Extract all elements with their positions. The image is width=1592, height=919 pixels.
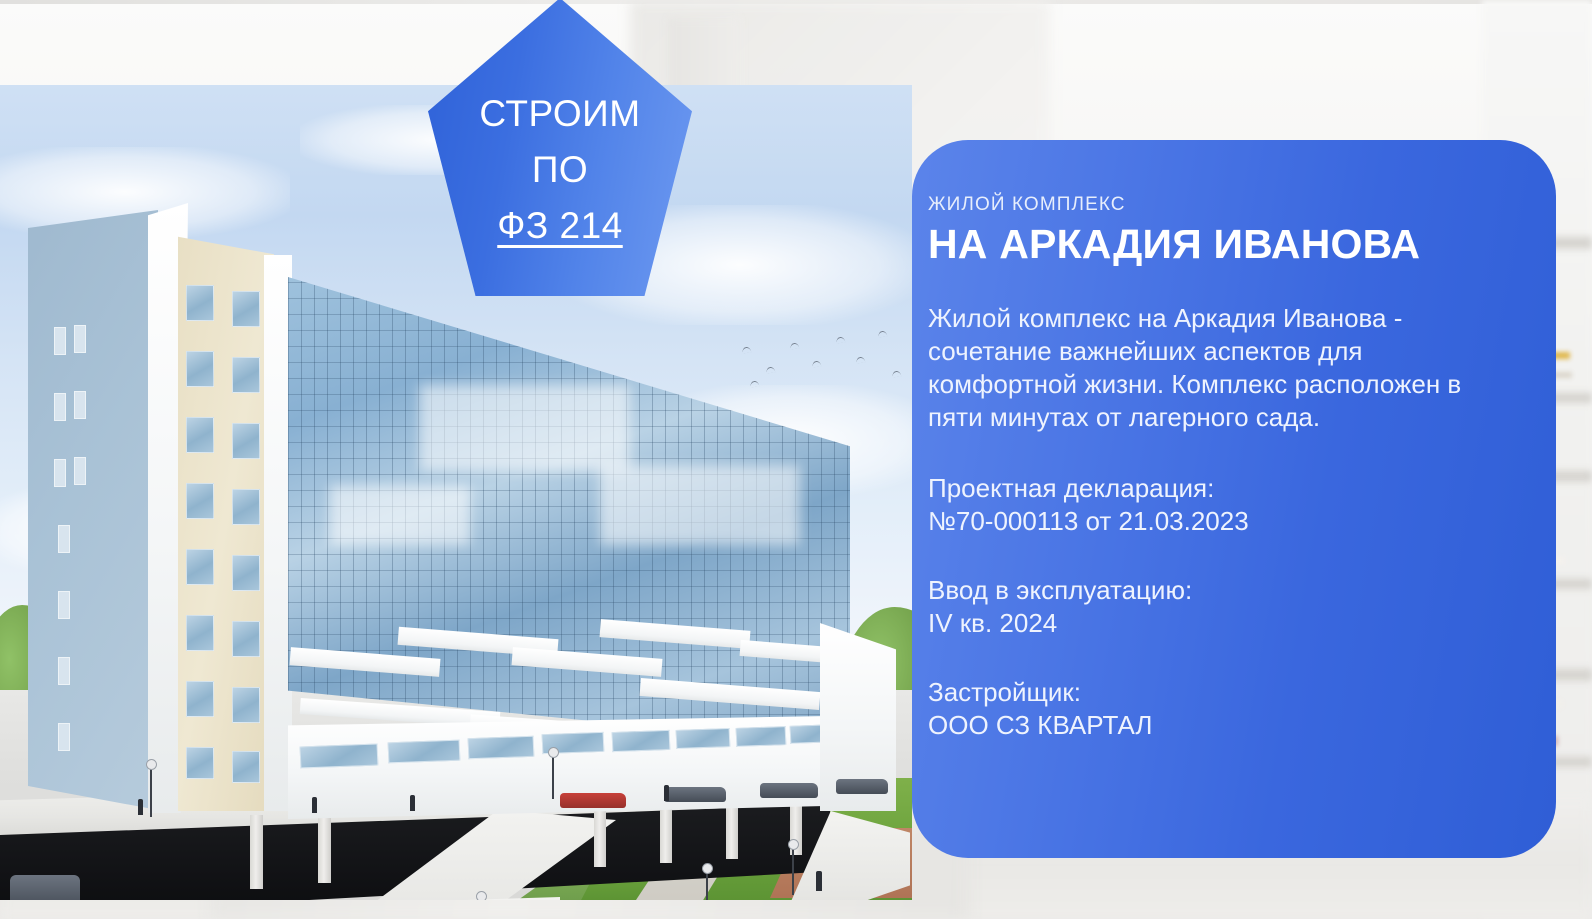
glass-reflection [420, 385, 630, 471]
parked-car [560, 793, 626, 808]
facade-window [186, 681, 214, 717]
facade-window [186, 483, 214, 519]
bird-icon [836, 336, 846, 343]
end-wall-window [74, 325, 86, 353]
bird-icon [812, 360, 822, 367]
badge-line-2: ПО [532, 142, 588, 198]
bird-icon [790, 342, 800, 349]
bird-icon [750, 380, 760, 387]
facade-window [186, 747, 214, 779]
end-wall-window [74, 391, 86, 419]
base-window [612, 730, 671, 752]
parking-column [250, 815, 263, 889]
end-wall-window [58, 525, 70, 553]
building-end-wall [28, 210, 158, 810]
street-lamp [792, 845, 794, 895]
field-developer: Застройщик: ООО СЗ КВАРТАЛ [928, 676, 1500, 742]
end-wall-window [58, 723, 70, 751]
field-label: Застройщик: [928, 676, 1500, 709]
street-lamp [552, 753, 554, 799]
street-lamp-head [476, 891, 487, 900]
panel-eyebrow: ЖИЛОЙ КОМПЛЕКС [928, 194, 1500, 216]
parked-car [760, 783, 818, 798]
facade-window [232, 621, 260, 657]
facade-window [232, 357, 260, 393]
badge-line-3: ФЗ 214 [497, 198, 623, 254]
end-wall-window [54, 393, 66, 421]
parking-column [318, 811, 331, 883]
end-wall-window [54, 459, 66, 487]
slide-canvas: СТРОИМ ПО ФЗ 214 ЖИЛОЙ КОМПЛЕКС НА АРКАД… [0, 0, 1592, 919]
person [816, 871, 822, 891]
end-wall-window [58, 591, 70, 619]
glass-reflection [330, 485, 470, 545]
page-title: НА АРКАДИЯ ИВАНОВА [928, 220, 1500, 268]
end-wall-window [54, 327, 66, 355]
end-wall-window [74, 457, 86, 485]
glass-reflection [600, 465, 800, 545]
person [138, 799, 143, 815]
facade-window [232, 291, 260, 327]
street-lamp-head [146, 759, 157, 770]
facade-window [232, 555, 260, 591]
parked-car [836, 779, 888, 794]
facade-window [186, 549, 214, 585]
bird-icon [878, 330, 888, 337]
parked-car [10, 875, 80, 900]
person [410, 795, 415, 811]
facade-window [186, 615, 214, 651]
bird-icon [892, 370, 902, 377]
base-window [736, 726, 787, 747]
bird-icon [856, 356, 866, 363]
project-info-panel: ЖИЛОЙ КОМПЛЕКС НА АРКАДИЯ ИВАНОВА Жилой … [912, 140, 1556, 858]
field-value: №70-000113 от 21.03.2023 [928, 505, 1500, 538]
field-value: ООО СЗ КВАРТАЛ [928, 709, 1500, 742]
facade-window [232, 489, 260, 525]
field-value: IV кв. 2024 [928, 607, 1500, 640]
facade-window [186, 351, 214, 387]
street-lamp-head [548, 747, 559, 758]
facade-window [232, 751, 260, 783]
field-declaration: Проектная декларация: №70-000113 от 21.0… [928, 472, 1500, 538]
parked-car [664, 787, 726, 802]
badge-line-1: СТРОИМ [479, 86, 640, 142]
street-lamp [150, 765, 152, 817]
street-lamp-head [788, 839, 799, 850]
person [312, 797, 317, 813]
building-white-band [264, 255, 292, 811]
facade-window [232, 687, 260, 723]
end-wall-window [58, 657, 70, 685]
facade-window [186, 285, 214, 321]
facade-window [232, 423, 260, 459]
field-commissioning: Ввод в эксплуатацию: IV кв. 2024 [928, 574, 1500, 640]
street-lamp-head [702, 863, 713, 874]
base-window [468, 736, 535, 760]
project-description: Жилой комплекс на Аркадия Иванова - соче… [928, 302, 1500, 434]
field-label: Ввод в эксплуатацию: [928, 574, 1500, 607]
base-window [388, 740, 461, 764]
bird-icon [766, 366, 776, 373]
facade-window [186, 417, 214, 453]
base-window [676, 728, 731, 749]
bird-icon [742, 346, 752, 353]
person [664, 785, 669, 801]
base-window [300, 744, 379, 769]
field-label: Проектная декларация: [928, 472, 1500, 505]
